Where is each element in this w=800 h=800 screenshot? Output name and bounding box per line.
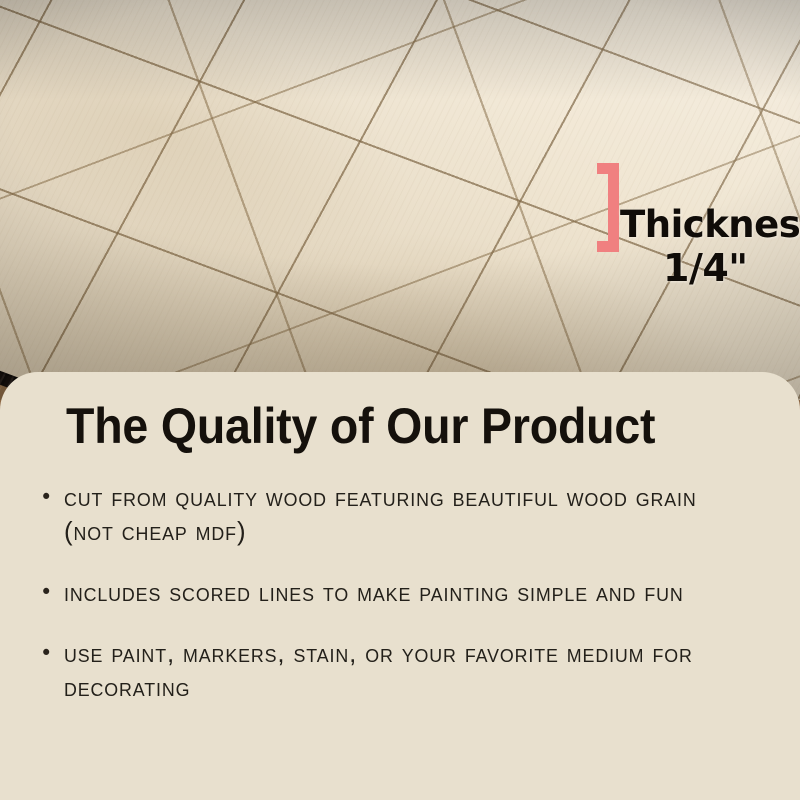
bracket-bottom-cap: [597, 241, 619, 252]
quality-bullet-list: • Cut from quality wood featuring beauti…: [40, 480, 756, 731]
list-item: • Cut from quality wood featuring beauti…: [40, 480, 756, 548]
product-infographic: Thickness 1/4" The Quality of Our Produc…: [0, 0, 800, 800]
thickness-label: Thickness: [620, 206, 800, 243]
bullet-text: Cut from quality wood featuring beautifu…: [64, 480, 749, 548]
card-title: The Quality of Our Product: [66, 401, 655, 451]
bullet-dot-icon: •: [40, 480, 64, 514]
bullet-text: Use paint, markers, stain, or your favor…: [64, 636, 749, 704]
list-item: • Use paint, markers, stain, or your fav…: [40, 636, 756, 704]
bullet-text: Includes scored lines to make painting s…: [64, 575, 749, 609]
product-photo: Thickness 1/4": [0, 0, 800, 400]
list-item: • Includes scored lines to make painting…: [40, 575, 756, 609]
thickness-value: 1/4": [663, 249, 748, 287]
bracket-vertical-bar: [608, 163, 619, 252]
thickness-bracket-icon: [597, 163, 619, 252]
bullet-dot-icon: •: [40, 636, 64, 670]
bullet-dot-icon: •: [40, 575, 64, 609]
photo-vignette: [0, 0, 800, 400]
